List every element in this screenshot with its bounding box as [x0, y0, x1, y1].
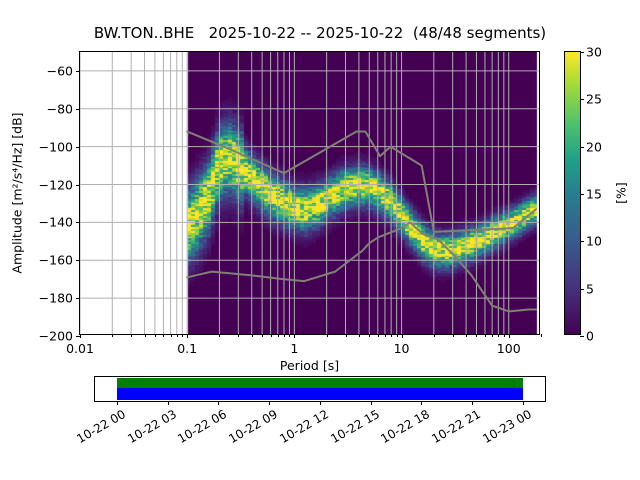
- x-tick-mark: [453, 334, 454, 337]
- colorbar-tick-mark: [580, 241, 584, 242]
- x-tick-mark: [402, 334, 403, 338]
- y-tick-label: −180: [39, 291, 73, 306]
- x-tick-mark: [284, 334, 285, 337]
- x-tick-mark: [397, 334, 398, 337]
- data-coverage-bar: [117, 378, 523, 388]
- timeline-tick-mark: [421, 401, 422, 405]
- noise-model-curves: [80, 52, 539, 334]
- x-tick-mark: [145, 334, 146, 337]
- timeline-tick-label: 10-22 09: [226, 407, 280, 446]
- colorbar-label: [%]: [612, 51, 630, 335]
- y-tick-mark: [76, 109, 80, 110]
- y-tick-label: −140: [39, 215, 73, 230]
- x-tick-mark: [219, 334, 220, 337]
- x-tick-mark: [492, 334, 493, 337]
- colorbar-tick-mark: [580, 99, 584, 100]
- x-tick-mark: [289, 334, 290, 337]
- colorbar-tick-mark: [580, 52, 584, 53]
- x-tick-mark: [271, 334, 272, 337]
- x-tick-mark: [131, 334, 132, 337]
- y-tick-mark: [76, 260, 80, 261]
- x-tick-mark: [171, 334, 172, 337]
- x-tick-mark: [391, 334, 392, 337]
- timeline-tick-mark: [117, 401, 118, 405]
- y-tick-label: −120: [39, 177, 73, 192]
- timeline-tick-label: 10-22 21: [429, 407, 483, 446]
- y-axis-label: Amplitude [m²/s⁴/Hz] [dB]: [8, 51, 26, 335]
- timeline-tick-label: 10-22 15: [328, 407, 382, 446]
- colorbar-tick-label: 10: [586, 234, 602, 249]
- timeline-tick-label: 10-22 12: [277, 407, 331, 446]
- timeline-tick-label: 10-22 06: [176, 407, 230, 446]
- x-tick-label: 100: [497, 341, 521, 356]
- x-tick-label: 10: [394, 341, 410, 356]
- colorbar-tick-label: 0: [586, 329, 594, 344]
- x-tick-mark: [327, 334, 328, 337]
- x-tick-mark: [238, 334, 239, 337]
- ppsd-figure: BW.TON..BHE 2025-10-22 -- 2025-10-22 (48…: [0, 0, 640, 480]
- psd-segments-bar: [117, 388, 523, 400]
- colorbar-tick-mark: [580, 289, 584, 290]
- timeline-tick-mark: [218, 401, 219, 405]
- x-tick-mark: [182, 334, 183, 337]
- x-tick-mark: [177, 334, 178, 337]
- x-tick-mark: [504, 334, 505, 337]
- x-tick-mark: [187, 334, 188, 338]
- x-tick-mark: [378, 334, 379, 337]
- x-tick-label: 0.01: [66, 341, 94, 356]
- x-tick-mark: [498, 334, 499, 337]
- timeline-tick-label: 10-23 00: [480, 407, 534, 446]
- x-tick-mark: [252, 334, 253, 337]
- y-tick-mark: [76, 222, 80, 223]
- ppsd-plot-area: [80, 52, 539, 334]
- y-axis-label-text: Amplitude [m²/s⁴/Hz] [dB]: [10, 112, 25, 273]
- x-tick-mark: [346, 334, 347, 337]
- x-tick-mark: [541, 334, 542, 337]
- timeline-tick-label: 10-22 00: [74, 407, 128, 446]
- figure-title: BW.TON..BHE 2025-10-22 -- 2025-10-22 (48…: [0, 24, 640, 42]
- y-tick-mark: [76, 185, 80, 186]
- colorbar: 051015202530: [564, 51, 581, 335]
- colorbar-tick-label: 20: [586, 139, 602, 154]
- x-tick-label: 0.1: [177, 341, 197, 356]
- colorbar-tick-mark: [580, 336, 584, 337]
- timeline-axes: 10-22 0010-22 0310-22 0610-22 0910-22 12…: [94, 376, 546, 402]
- timeline-tick-mark: [320, 401, 321, 405]
- colorbar-tick-label: 30: [586, 45, 602, 60]
- x-tick-mark: [278, 334, 279, 337]
- x-axis-label: Period [s]: [79, 358, 540, 373]
- x-tick-label: 1: [290, 341, 298, 356]
- colorbar-label-text: [%]: [614, 182, 629, 204]
- colorbar-tick-label: 25: [586, 92, 602, 107]
- timeline-plot-area: [95, 377, 545, 401]
- colorbar-tick-mark: [580, 194, 584, 195]
- x-tick-mark: [385, 334, 386, 337]
- colorbar-tick-label: 5: [586, 281, 594, 296]
- colorbar-tick-mark: [580, 147, 584, 148]
- y-tick-mark: [76, 71, 80, 72]
- x-tick-mark: [80, 334, 81, 338]
- timeline-tick-mark: [523, 401, 524, 405]
- timeline-tick-mark: [168, 401, 169, 405]
- x-tick-mark: [359, 334, 360, 337]
- x-tick-mark: [509, 334, 510, 338]
- x-tick-mark: [155, 334, 156, 337]
- x-tick-mark: [369, 334, 370, 337]
- y-tick-mark: [76, 147, 80, 148]
- timeline-tick-mark: [269, 401, 270, 405]
- colorbar-tick-label: 15: [586, 187, 602, 202]
- timeline-tick-label: 10-22 03: [125, 407, 179, 446]
- timeline-tick-mark: [371, 401, 372, 405]
- ppsd-axes: −200−180−160−140−120−100−80−60 0.010.111…: [79, 51, 540, 335]
- y-tick-label: −160: [39, 253, 73, 268]
- y-tick-label: −100: [39, 139, 73, 154]
- y-tick-label: −80: [47, 101, 73, 116]
- x-tick-mark: [163, 334, 164, 337]
- x-tick-mark: [485, 334, 486, 337]
- x-tick-mark: [294, 334, 295, 338]
- x-tick-mark: [434, 334, 435, 337]
- y-tick-mark: [76, 298, 80, 299]
- x-tick-mark: [112, 334, 113, 337]
- timeline-tick-label: 10-22 18: [379, 407, 433, 446]
- timeline-tick-mark: [472, 401, 473, 405]
- x-tick-mark: [466, 334, 467, 337]
- y-tick-label: −60: [47, 63, 73, 78]
- x-tick-mark: [476, 334, 477, 337]
- x-tick-mark: [262, 334, 263, 337]
